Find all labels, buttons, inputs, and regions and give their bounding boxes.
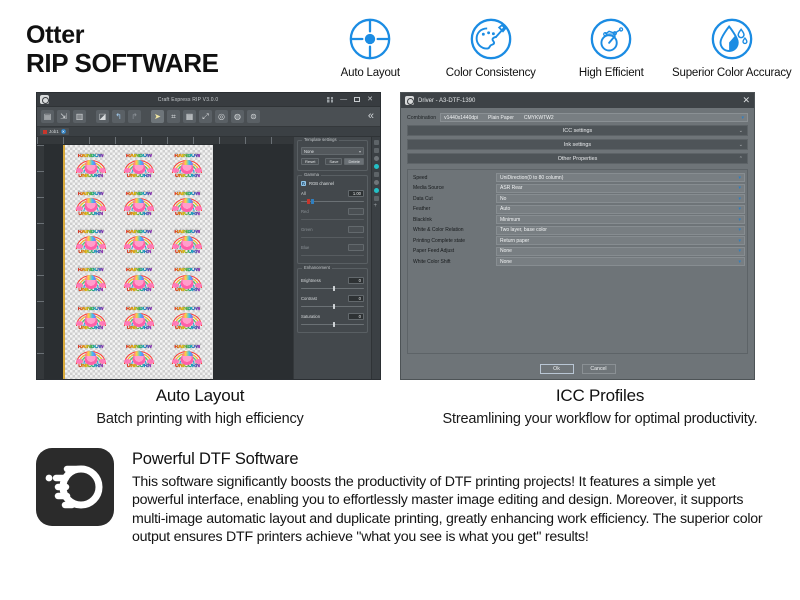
new-document-icon[interactable]: ▤: [41, 110, 54, 123]
rip-window: Craft Express RIP V3.0.0 — ✕ ▤ ⇲ ▥ ◪ ↰: [36, 92, 381, 380]
property-label: Speed: [410, 175, 496, 181]
ink-settings-label: Ink settings: [564, 142, 591, 148]
property-value-select[interactable]: Minimum▾: [496, 215, 745, 224]
app-logo-icon: [40, 95, 49, 104]
gamma-all-value[interactable]: 1.00: [348, 190, 364, 197]
artwork-bottom-text: UNICORN: [175, 364, 200, 370]
property-label: White & Color Relation: [410, 227, 496, 233]
feature-superior-color-accuracy: Superior Color Accuracy: [672, 16, 793, 79]
dot-icon[interactable]: [374, 156, 379, 161]
artwork-bottom-text: UNICORN: [78, 326, 103, 332]
gamma-green-row: Green: [301, 226, 364, 233]
slider-knob[interactable]: [333, 304, 336, 310]
gamma-red-value: [348, 208, 364, 215]
property-value-text: No: [500, 196, 506, 202]
rainbow-graphic: [172, 160, 202, 173]
template-button-row: Reset Save Delete: [301, 158, 364, 165]
caption-title: Auto Layout: [0, 386, 400, 406]
contrast-row: Contrast 0: [301, 295, 364, 302]
artwork-top-text: RAINBOW: [174, 230, 200, 236]
gamma-blue-row: Blue: [301, 244, 364, 251]
gamma-red-label: Red: [301, 209, 309, 214]
artwork-bottom-text: UNICORN: [127, 364, 152, 370]
bottom-paragraph: This software significantly boosts the p…: [132, 473, 766, 546]
minimize-icon[interactable]: —: [340, 96, 347, 103]
artwork-top-text: RAINBOW: [174, 154, 200, 160]
artwork-bottom-text: UNICORN: [175, 326, 200, 332]
transform-icon[interactable]: ⤢: [199, 110, 212, 123]
chevron-down-icon: ▾: [738, 185, 741, 191]
target-on-icon[interactable]: [374, 188, 379, 193]
chevron-down-icon: ▾: [741, 115, 744, 121]
artwork-tile[interactable]: RAINBOWUNICORN: [115, 263, 162, 300]
artwork-top-text: RAINBOW: [126, 192, 152, 198]
dtf-speed-logo-icon: [36, 448, 114, 526]
chevron-down-icon: ▾: [738, 227, 741, 233]
chevron-down-icon: ▾: [738, 259, 741, 265]
enhancement-group: Enhancement Brightness 0 Contrast: [297, 268, 368, 333]
artwork-tile[interactable]: RAINBOWUNICORN: [67, 186, 114, 223]
property-row: Data CutNo▾: [410, 194, 745, 203]
property-value-select[interactable]: Return paper▾: [496, 236, 745, 245]
crop-icon[interactable]: ⌗: [167, 110, 180, 123]
artwork-tile[interactable]: RAINBOWUNICORN: [164, 339, 211, 376]
rainbow-graphic: [124, 198, 154, 211]
chevron-down-icon: ▾: [359, 149, 361, 154]
rainbow-graphic: [124, 275, 154, 288]
slider-track: [301, 255, 364, 257]
toolbar-separator: [89, 110, 93, 123]
speed-gauge-icon: [588, 16, 634, 62]
crosshair-target-icon: [347, 16, 393, 62]
properties-table: SpeedUniDirection(0 to 80 column)▾Media …: [407, 169, 748, 354]
artwork-top-text: RAINBOW: [126, 230, 152, 236]
artwork-tile[interactable]: RAINBOWUNICORN: [164, 263, 211, 300]
gamma-legend: Gamma: [302, 172, 321, 177]
property-value-text: Return paper: [500, 238, 529, 244]
rgb-channel-checkbox[interactable]: [301, 181, 306, 186]
rip-properties-panel: Template settings None ▾ Reset Save: [293, 137, 371, 379]
rip-title-bar: Craft Express RIP V3.0.0 — ✕: [37, 93, 380, 107]
artwork-top-text: RAINBOW: [126, 154, 152, 160]
bottom-title: Powerful DTF Software: [132, 450, 766, 469]
property-row: FeatherAuto▾: [410, 205, 745, 214]
feature-label: Auto Layout: [341, 67, 400, 79]
chevron-up-icon: ⌃: [739, 156, 743, 162]
chevron-down-icon: ▾: [738, 238, 741, 244]
artwork-tile[interactable]: RAINBOWUNICORN: [67, 148, 114, 185]
rip-tab-strip: Job1 ✕: [37, 127, 380, 137]
property-label: Paper Feed Adjust: [410, 248, 496, 254]
horizontal-ruler: [37, 137, 293, 145]
brightness-value[interactable]: 0: [348, 277, 364, 284]
bottom-text-block: Powerful DTF Software This software sign…: [132, 448, 766, 546]
artwork-tile[interactable]: RAINBOWUNICORN: [67, 301, 114, 338]
slider-knob-red[interactable]: [307, 199, 310, 205]
gamma-red-slider: [301, 216, 364, 222]
property-value-text: UniDirection(0 to 80 column): [500, 175, 563, 181]
property-value-text: Two layer, base color: [500, 227, 547, 233]
driver-dialog: Driver - A3-DTF-1390 ✕ Combination v1440…: [400, 92, 755, 380]
tab-color-swatch: [43, 130, 47, 134]
property-value-text: ASR Rear: [500, 185, 523, 191]
property-label: BlackInk: [410, 217, 496, 223]
zoom-icon[interactable]: ◎: [215, 110, 228, 123]
artwork-top-text: RAINBOW: [126, 268, 152, 274]
property-value-select[interactable]: No▾: [496, 194, 745, 203]
brightness-label: Brightness: [301, 278, 321, 283]
template-save-button[interactable]: Save: [325, 158, 342, 165]
property-value-text: None: [500, 259, 512, 265]
property-value-select[interactable]: None▾: [496, 247, 745, 256]
combination-select[interactable]: v1440x1440dpi Plain Paper CMYKWTW2 ▾: [440, 113, 748, 122]
rainbow-graphic: [172, 313, 202, 326]
feature-label: Superior Color Accuracy: [672, 67, 791, 79]
gamma-green-slider: [301, 234, 364, 240]
slider-track: [301, 219, 364, 221]
driver-dialog-screenshot: Driver - A3-DTF-1390 ✕ Combination v1440…: [400, 92, 755, 380]
combination-media: Plain Paper: [488, 115, 514, 121]
saturation-value[interactable]: 0: [348, 313, 364, 320]
artwork-bottom-text: UNICORN: [127, 288, 152, 294]
rgb-channel-label: RGB channel: [309, 181, 334, 186]
chevron-down-icon: ▾: [738, 175, 741, 181]
property-row: SpeedUniDirection(0 to 80 column)▾: [410, 173, 745, 182]
artwork-tile[interactable]: RAINBOWUNICORN: [115, 186, 162, 223]
icc-settings-label: ICC settings: [563, 128, 592, 134]
artwork-top-text: RAINBOW: [174, 307, 200, 313]
save-icon[interactable]: ▥: [73, 110, 86, 123]
icc-settings-section[interactable]: ICC settings ⌄: [407, 125, 748, 136]
brightness-slider[interactable]: [301, 285, 364, 291]
gamma-blue-label: Blue: [301, 245, 309, 250]
rip-window-controls: — ✕: [327, 96, 377, 103]
saturation-row: Saturation 0: [301, 313, 364, 320]
slider-track: [301, 237, 364, 239]
brand-product: RIP SOFTWARE: [26, 49, 219, 77]
property-value-text: Minimum: [500, 217, 520, 223]
property-value-select[interactable]: UniDirection(0 to 80 column)▾: [496, 173, 745, 182]
property-value-select[interactable]: ASR Rear▾: [496, 184, 745, 193]
rainbow-graphic: [172, 236, 202, 249]
slider-knob-blue[interactable]: [311, 199, 314, 205]
import-image-icon[interactable]: ⇲: [57, 110, 70, 123]
artwork-tile[interactable]: RAINBOWUNICORN: [115, 224, 162, 261]
rainbow-graphic: [76, 351, 106, 364]
gamma-blue-value: [348, 244, 364, 251]
combination-resolution: v1440x1440dpi: [444, 115, 478, 121]
maximize-icon[interactable]: [354, 97, 360, 102]
grid-view-icon[interactable]: [327, 97, 333, 103]
feature-list: Auto Layout Color Consistency: [310, 16, 792, 79]
toolbar-separator: [144, 110, 148, 123]
ok-button[interactable]: Ok: [540, 364, 574, 374]
gamma-green-label: Green: [301, 227, 313, 232]
property-label: Media Source: [410, 185, 496, 191]
caption-subtitle: Streamlining your workflow for optimal p…: [400, 411, 800, 427]
rip-job-tab[interactable]: Job1 ✕: [40, 128, 69, 135]
rainbow-graphic: [172, 198, 202, 211]
caption-subtitle: Batch printing with high efficiency: [0, 411, 400, 427]
grid-layout-icon[interactable]: ▦: [183, 110, 196, 123]
brand-block: Otter RIP SOFTWARE: [26, 22, 219, 77]
add-icon[interactable]: +: [374, 204, 379, 209]
chevron-down-icon: ▾: [738, 196, 741, 202]
rgb-channel-checkbox-row[interactable]: RGB channel: [301, 181, 364, 186]
rainbow-graphic: [124, 236, 154, 249]
property-value-select[interactable]: Auto▾: [496, 205, 745, 214]
rainbow-graphic: [76, 198, 106, 211]
feature-label: Color Consistency: [446, 67, 536, 79]
chevron-down-icon: ▾: [738, 248, 741, 254]
gamma-all-row: All 1.00: [301, 190, 364, 197]
chevron-down-icon: ⌄: [739, 128, 743, 134]
bottom-section: Powerful DTF Software This software sign…: [36, 448, 766, 546]
combination-label: Combination: [407, 115, 436, 121]
artwork-bottom-text: UNICORN: [78, 174, 103, 180]
template-preset-select[interactable]: None ▾: [301, 147, 364, 155]
artwork-tile[interactable]: RAINBOWUNICORN: [164, 301, 211, 338]
property-value-select[interactable]: Two layer, base color▾: [496, 226, 745, 235]
square-icon[interactable]: [374, 196, 379, 201]
rip-body: RAINBOWUNICORNRAINBOWUNICORNRAINBOWUNICO…: [37, 137, 380, 379]
settings-circle-icon[interactable]: ⊜: [247, 110, 260, 123]
double-chevron-left-icon[interactable]: «: [368, 111, 376, 122]
property-value-select[interactable]: None▾: [496, 257, 745, 266]
print-media-sheet[interactable]: RAINBOWUNICORNRAINBOWUNICORNRAINBOWUNICO…: [63, 145, 213, 379]
artwork-top-text: RAINBOW: [174, 345, 200, 351]
rainbow-graphic: [76, 313, 106, 326]
driver-dialog-body: Combination v1440x1440dpi Plain Paper CM…: [401, 108, 754, 359]
select-arrow-icon[interactable]: ➤: [151, 110, 164, 123]
template-preset-row: None ▾: [301, 147, 364, 155]
layers-icon[interactable]: [374, 140, 379, 145]
square-icon[interactable]: [374, 172, 379, 177]
target-on-icon[interactable]: [374, 164, 379, 169]
driver-title-bar: Driver - A3-DTF-1390 ✕: [401, 93, 754, 108]
other-properties-label: Other Properties: [558, 156, 598, 162]
artwork-top-text: RAINBOW: [78, 192, 104, 198]
brightness-row: Brightness 0: [301, 277, 364, 284]
artwork-tile[interactable]: RAINBOWUNICORN: [164, 148, 211, 185]
artwork-top-text: RAINBOW: [78, 345, 104, 351]
vertical-ruler: [37, 145, 45, 379]
ink-settings-section[interactable]: Ink settings ⌄: [407, 139, 748, 150]
artwork-bottom-text: UNICORN: [175, 212, 200, 218]
rainbow-graphic: [76, 236, 106, 249]
rainbow-graphic: [124, 160, 154, 173]
property-row: BlackInkMinimum▾: [410, 215, 745, 224]
artwork-bottom-text: UNICORN: [175, 288, 200, 294]
artwork-bottom-text: UNICORN: [78, 250, 103, 256]
gamma-red-row: Red: [301, 208, 364, 215]
paint-palette-icon: [468, 16, 514, 62]
artwork-tile[interactable]: RAINBOWUNICORN: [67, 224, 114, 261]
chevron-down-icon: ▾: [738, 206, 741, 212]
saturation-slider[interactable]: [301, 321, 364, 327]
template-reset-button[interactable]: Reset: [301, 158, 319, 165]
artwork-bottom-text: UNICORN: [175, 250, 200, 256]
caption-icc-profiles: ICC Profiles Streamlining your workflow …: [400, 386, 800, 427]
feature-auto-layout: Auto Layout: [310, 16, 431, 79]
dot-icon[interactable]: [374, 180, 379, 185]
artwork-tile[interactable]: RAINBOWUNICORN: [115, 339, 162, 376]
gamma-group: Gamma RGB channel All 1.00: [297, 175, 368, 264]
property-label: Feather: [410, 206, 496, 212]
list-icon[interactable]: [374, 148, 379, 153]
rainbow-graphic: [124, 351, 154, 364]
app-logo-icon: [405, 96, 414, 105]
rip-canvas[interactable]: RAINBOWUNICORNRAINBOWUNICORNRAINBOWUNICO…: [45, 145, 293, 379]
artwork-top-text: RAINBOW: [78, 230, 104, 236]
artwork-tile[interactable]: RAINBOWUNICORN: [67, 263, 114, 300]
artwork-grid: RAINBOWUNICORNRAINBOWUNICORNRAINBOWUNICO…: [67, 148, 211, 376]
rip-window-title: Craft Express RIP V3.0.0: [49, 97, 327, 103]
artwork-bottom-text: UNICORN: [127, 212, 152, 218]
artwork-tile[interactable]: RAINBOWUNICORN: [164, 186, 211, 223]
driver-dialog-footer: Ok Cancel: [401, 359, 754, 379]
artwork-bottom-text: UNICORN: [78, 288, 103, 294]
artwork-bottom-text: UNICORN: [127, 326, 152, 332]
rip-toolbar: ▤ ⇲ ▥ ◪ ↰ ↱ ➤ ⌗ ▦ ⤢ ◎ ◍ ⊜ «: [37, 107, 380, 127]
artwork-tile[interactable]: RAINBOWUNICORN: [115, 301, 162, 338]
contrast-label: Contrast: [301, 296, 317, 301]
artwork-bottom-text: UNICORN: [175, 174, 200, 180]
artwork-top-text: RAINBOW: [78, 154, 104, 160]
undo-icon[interactable]: ↰: [112, 110, 125, 123]
brand-name: Otter: [26, 22, 219, 49]
artwork-bottom-text: UNICORN: [78, 364, 103, 370]
chevron-down-icon: ▾: [738, 217, 741, 223]
slider-knob[interactable]: [333, 322, 336, 328]
property-row: Paper Feed AdjustNone▾: [410, 247, 745, 256]
caption-row: Auto Layout Batch printing with high eff…: [0, 386, 800, 427]
property-row: White & Color RelationTwo layer, base co…: [410, 226, 745, 235]
combination-inkset: CMYKWTW2: [524, 115, 554, 121]
rainbow-graphic: [172, 351, 202, 364]
property-value-text: Auto: [500, 206, 510, 212]
rainbow-graphic: [76, 160, 106, 173]
rainbow-graphic: [76, 275, 106, 288]
driver-dialog-title: Driver - A3-DTF-1390: [418, 98, 475, 104]
property-row: White Color ShiftNone▾: [410, 257, 745, 266]
chevron-down-icon: ⌄: [739, 142, 743, 148]
gamma-blue-slider: [301, 252, 364, 258]
feature-high-efficient: High Efficient: [551, 16, 672, 79]
close-icon[interactable]: ✕: [742, 96, 750, 105]
property-row: Printing Complete stateReturn paper▾: [410, 236, 745, 245]
cancel-button[interactable]: Cancel: [582, 364, 616, 374]
property-label: White Color Shift: [410, 259, 496, 265]
color-picker-icon[interactable]: ◍: [231, 110, 244, 123]
caption-title: ICC Profiles: [400, 386, 800, 406]
export-icon[interactable]: ◪: [96, 110, 109, 123]
rip-canvas-column: RAINBOWUNICORNRAINBOWUNICORNRAINBOWUNICO…: [37, 137, 293, 379]
gamma-green-value: [348, 226, 364, 233]
other-properties-section[interactable]: Other Properties ⌃: [407, 153, 748, 164]
gamma-all-label: All: [301, 191, 306, 196]
rainbow-graphic: [172, 275, 202, 288]
property-label: Data Cut: [410, 196, 496, 202]
template-delete-button[interactable]: Delete: [344, 158, 364, 165]
redo-icon[interactable]: ↱: [128, 110, 141, 123]
feature-color-consistency: Color Consistency: [431, 16, 552, 79]
slider-knob[interactable]: [333, 286, 336, 292]
artwork-bottom-text: UNICORN: [127, 250, 152, 256]
saturation-label: Saturation: [301, 314, 320, 319]
properties-empty-space: [410, 268, 745, 351]
promo-page: Otter RIP SOFTWARE Auto Layout: [0, 0, 800, 600]
contrast-value[interactable]: 0: [348, 295, 364, 302]
artwork-tile[interactable]: RAINBOWUNICORN: [164, 224, 211, 261]
artwork-top-text: RAINBOW: [174, 268, 200, 274]
rip-tab-label: Job1: [49, 129, 59, 134]
template-settings-group: Template settings None ▾ Reset Save: [297, 140, 368, 171]
rip-side-dock: +: [371, 137, 380, 379]
template-settings-legend: Template settings: [302, 137, 339, 142]
rip-canvas-area: RAINBOWUNICORNRAINBOWUNICORNRAINBOWUNICO…: [37, 145, 293, 379]
artwork-top-text: RAINBOW: [174, 192, 200, 198]
enhancement-legend: Enhancement: [302, 265, 332, 270]
close-tab-icon[interactable]: ✕: [61, 129, 66, 134]
artwork-bottom-text: UNICORN: [78, 212, 103, 218]
artwork-top-text: RAINBOW: [78, 268, 104, 274]
property-value-text: None: [500, 248, 512, 254]
rainbow-graphic: [124, 313, 154, 326]
property-label: Printing Complete state: [410, 238, 496, 244]
property-row: Media SourceASR Rear▾: [410, 184, 745, 193]
artwork-top-text: RAINBOW: [78, 307, 104, 313]
caption-auto-layout: Auto Layout Batch printing with high eff…: [0, 386, 400, 427]
close-icon[interactable]: ✕: [367, 96, 373, 103]
rip-software-screenshot: Craft Express RIP V3.0.0 — ✕ ▤ ⇲ ▥ ◪ ↰: [36, 92, 381, 380]
contrast-slider[interactable]: [301, 303, 364, 309]
combination-row: Combination v1440x1440dpi Plain Paper CM…: [407, 113, 748, 122]
artwork-top-text: RAINBOW: [126, 307, 152, 313]
template-preset-value: None: [304, 149, 314, 154]
artwork-tile[interactable]: RAINBOWUNICORN: [115, 148, 162, 185]
artwork-top-text: RAINBOW: [126, 345, 152, 351]
artwork-bottom-text: UNICORN: [127, 174, 152, 180]
ink-droplet-icon: [709, 16, 755, 62]
feature-label: High Efficient: [579, 67, 644, 79]
gamma-all-slider[interactable]: [301, 198, 364, 204]
artwork-tile[interactable]: RAINBOWUNICORN: [67, 339, 114, 376]
